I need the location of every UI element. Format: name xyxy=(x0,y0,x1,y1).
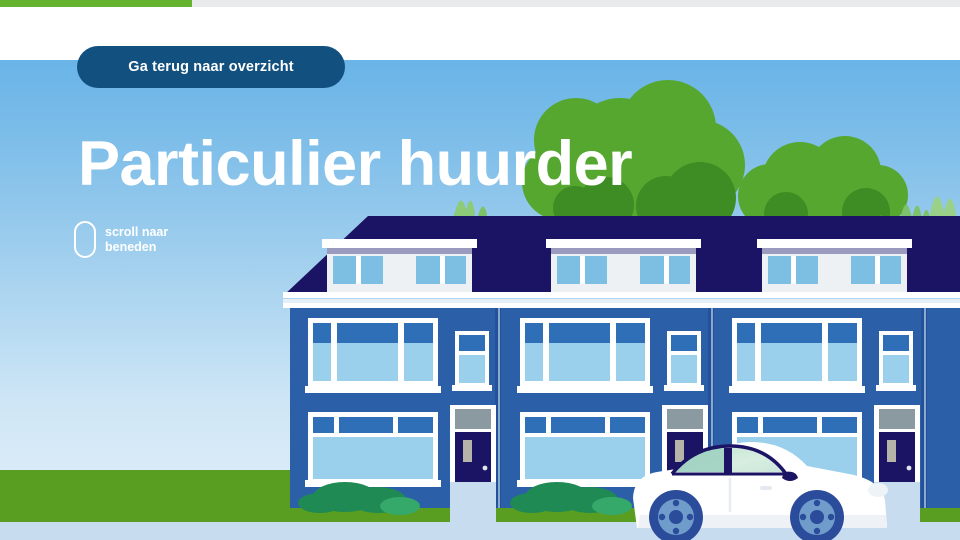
door-path-1 xyxy=(450,482,496,526)
scroll-down-line-2: beneden xyxy=(105,240,156,254)
first-floor-window-2 xyxy=(517,318,653,393)
first-floor-window-3 xyxy=(729,318,865,393)
page-title: Particulier huurder xyxy=(78,126,632,202)
page-progress-fill xyxy=(0,0,192,7)
unit-divider-line-1 xyxy=(498,308,500,508)
stair-window-2 xyxy=(664,331,704,391)
scroll-down-line-1: scroll naar xyxy=(105,225,168,239)
first-floor-window-1 xyxy=(305,318,441,393)
roof-fascia-top xyxy=(283,292,960,298)
dormer-window-1 xyxy=(322,239,477,292)
scroll-down-label: scroll naar beneden xyxy=(105,225,168,255)
roof-fascia-shadow xyxy=(283,299,960,303)
stair-window-3 xyxy=(876,331,916,391)
page-progress-track xyxy=(0,0,960,7)
dormer-window-3 xyxy=(757,239,912,292)
dormer-window-2 xyxy=(546,239,701,292)
back-to-overview-button[interactable]: Ga terug naar overzicht xyxy=(77,46,345,88)
ground-floor-window-1 xyxy=(305,412,441,487)
roof-fascia-bottom xyxy=(283,303,960,308)
stair-window-1 xyxy=(452,331,492,391)
unit-divider-line-3 xyxy=(924,308,926,508)
mouse-icon xyxy=(74,221,96,258)
ground-floor-window-2 xyxy=(517,412,653,487)
scroll-down-hint[interactable]: scroll naar beneden xyxy=(74,221,168,258)
page-root: Ga terug naar overzicht Particulier huur… xyxy=(0,0,960,540)
